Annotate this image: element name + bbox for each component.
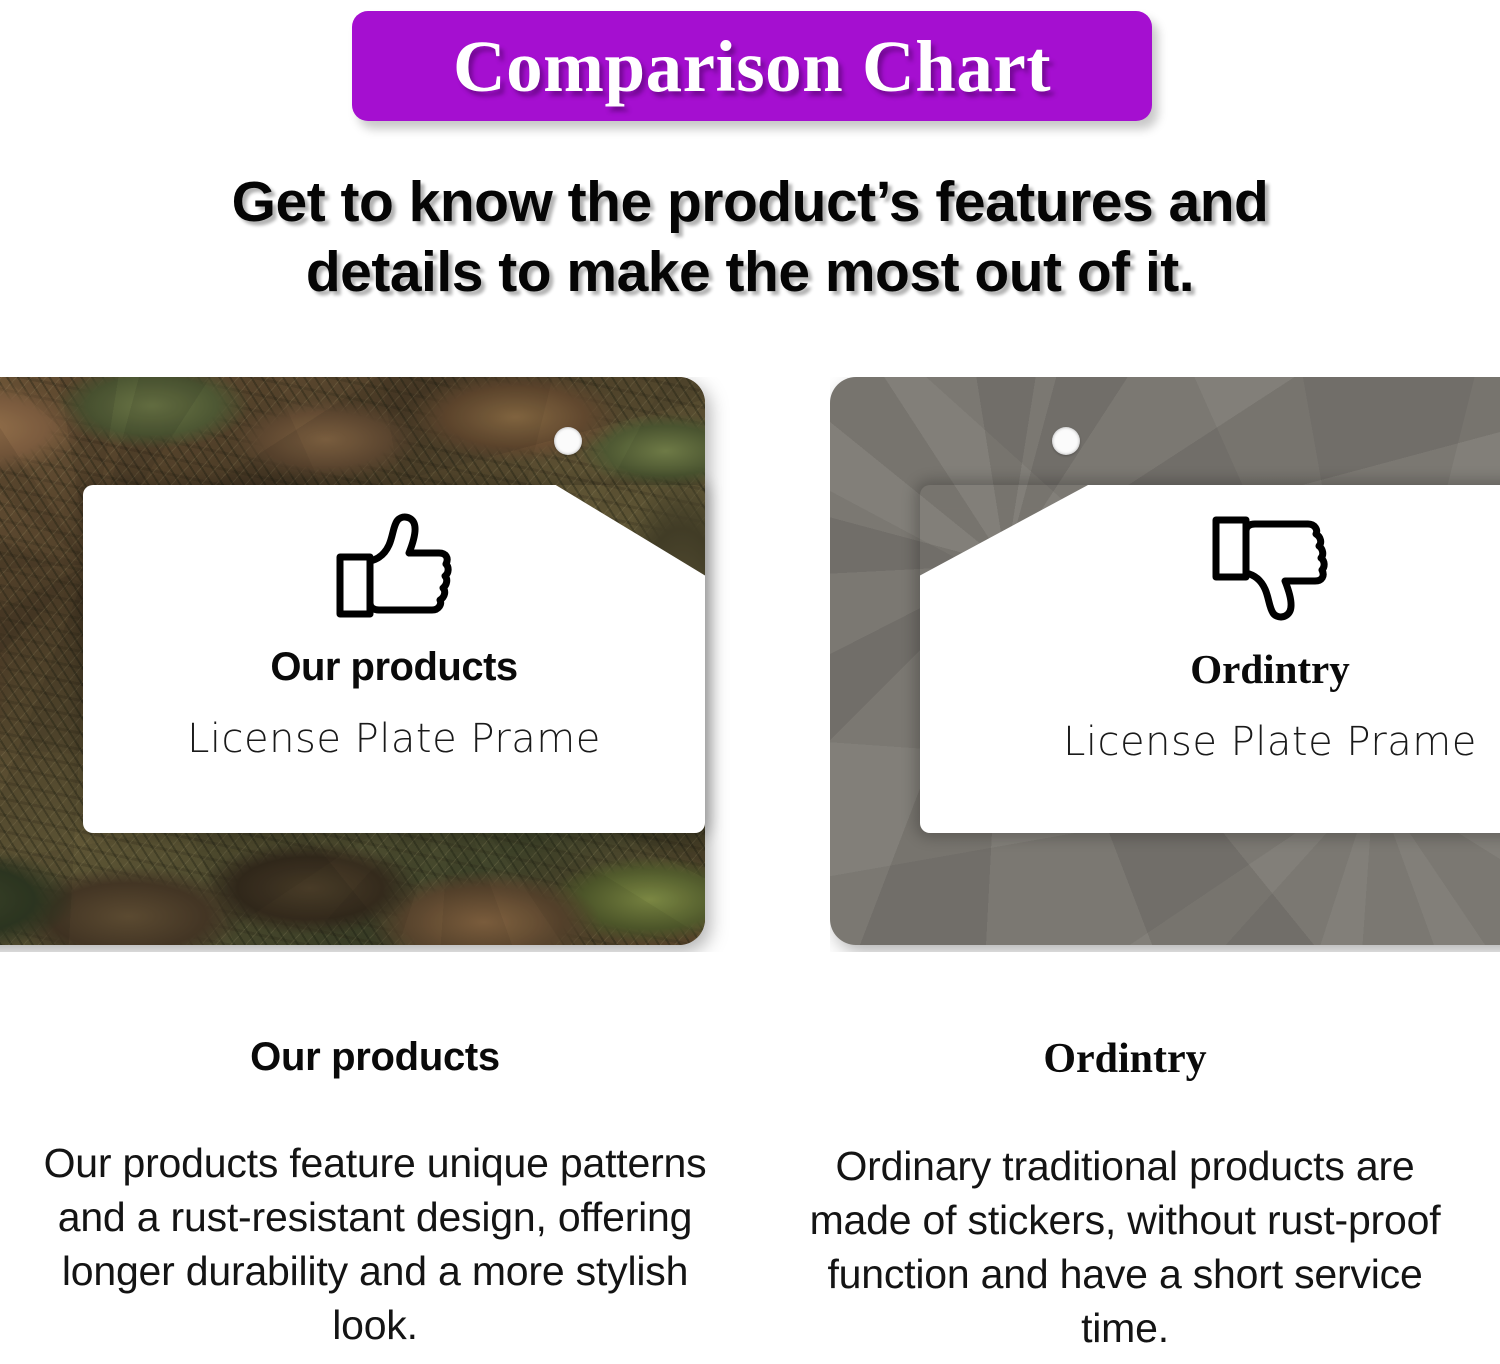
plate-content-right: Ordintry License Plate Prame [920, 485, 1500, 765]
subtitle-line-1: Get to know the product’s features and [120, 168, 1380, 238]
subtitle-line-2: details to make the most out of it. [120, 238, 1380, 308]
plate-subtitle-left: License Plate Prame [187, 716, 601, 762]
comparison-chart-page: Comparison Chart Get to know the product… [0, 0, 1500, 1364]
title-banner: Comparison Chart [352, 11, 1152, 121]
plate-subtitle-right: License Plate Prame [1063, 719, 1477, 765]
comparison-text-row: Our products Our products feature unique… [0, 1035, 1500, 1355]
comparison-body-our-products: Our products feature unique patterns and… [35, 1136, 715, 1352]
comparison-heading-our-products: Our products [35, 1035, 715, 1080]
plate-content-left: Our products License Plate Prame [83, 485, 705, 762]
mounting-hole [554, 427, 582, 455]
subtitle: Get to know the product’s features and d… [120, 168, 1380, 307]
comparison-column-ordintry: Ordintry Ordinary traditional products a… [750, 1035, 1500, 1355]
comparison-column-our-products: Our products Our products feature unique… [0, 1035, 750, 1355]
thumbs-up-icon [335, 511, 453, 623]
thumbs-down-icon [1211, 511, 1329, 623]
product-frame-ordintry: Ordintry License Plate Prame [830, 377, 1500, 952]
comparison-body-ordintry: Ordinary traditional products are made o… [785, 1139, 1465, 1355]
page-title: Comparison Chart [453, 30, 1051, 103]
plate-title-our-products: Our products [270, 645, 517, 690]
mounting-hole [1052, 427, 1080, 455]
plate-title-ordintry: Ordintry [1190, 645, 1349, 693]
product-frame-our-products: Our products License Plate Prame [0, 377, 730, 952]
comparison-heading-ordintry: Ordintry [785, 1035, 1465, 1083]
product-frames-row: Our products License Plate Prame [0, 377, 1500, 952]
